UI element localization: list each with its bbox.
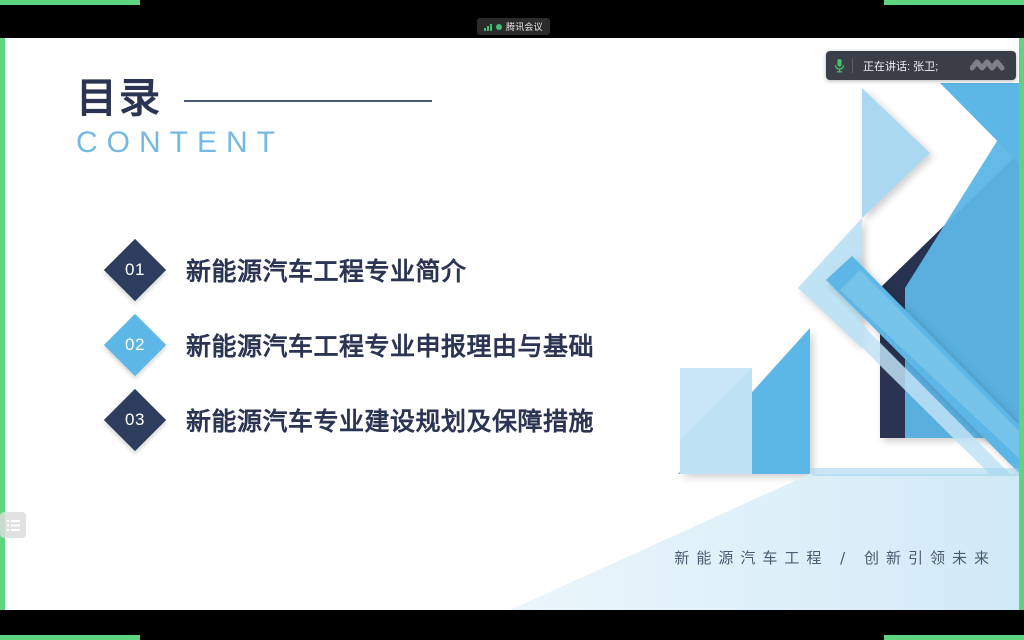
item-number-badge: 03 [104,389,166,451]
microphone-glyph [834,58,845,73]
list-item[interactable]: 01 新能源汽车工程专业简介 [113,241,594,299]
presentation-slide: 目录 CONTENT 01 新能源汽车工程专业简介 02 新能源汽车工程专业申报… [0,38,1024,610]
item-number-badge: 02 [104,314,166,376]
screen-share-stage: 目录 CONTENT 01 新能源汽车工程专业简介 02 新能源汽车工程专业申报… [0,0,1024,640]
item-label: 新能源汽车工程专业申报理由与基础 [186,327,594,363]
item-label: 新能源汽车专业建设规划及保障措施 [186,402,594,438]
slide-title-block: 目录 CONTENT [76,78,432,158]
list-item[interactable]: 03 新能源汽车专业建设规划及保障措施 [113,391,594,449]
microphone-icon[interactable] [826,58,852,73]
title-row: 目录 [76,78,432,119]
active-speaker-badge[interactable]: 正在讲话: 张卫; [826,51,1016,80]
badge-divider [852,58,853,73]
letterbox-bottom-fill [140,610,884,640]
list-item[interactable]: 02 新能源汽车工程专业申报理由与基础 [113,316,594,374]
item-number: 03 [113,398,157,442]
audio-wave-glyph [970,58,1008,74]
page-title: 目录 [76,78,162,119]
list-menu-icon[interactable] [0,512,26,538]
green-status-dot-icon [496,24,502,30]
meeting-app-name: 腾讯会议 [506,20,543,33]
item-number-badge: 01 [104,239,166,301]
item-number: 01 [113,248,157,292]
page-subtitle: CONTENT [76,128,432,158]
signal-bars-icon [484,23,492,31]
item-number: 02 [113,323,157,367]
meeting-status-pill[interactable]: 腾讯会议 [477,18,550,35]
content-list: 01 新能源汽车工程专业简介 02 新能源汽车工程专业申报理由与基础 03 新能… [113,241,594,466]
list-menu-glyph [7,520,20,531]
item-label: 新能源汽车工程专业简介 [186,252,467,288]
speaker-name-label: 正在讲话: 张卫; [863,58,970,74]
audio-wave-icon [970,58,1008,74]
title-rule [184,100,432,102]
slide-footer-tagline: 新能源汽车工程 / 创新引领未来 [674,547,996,568]
